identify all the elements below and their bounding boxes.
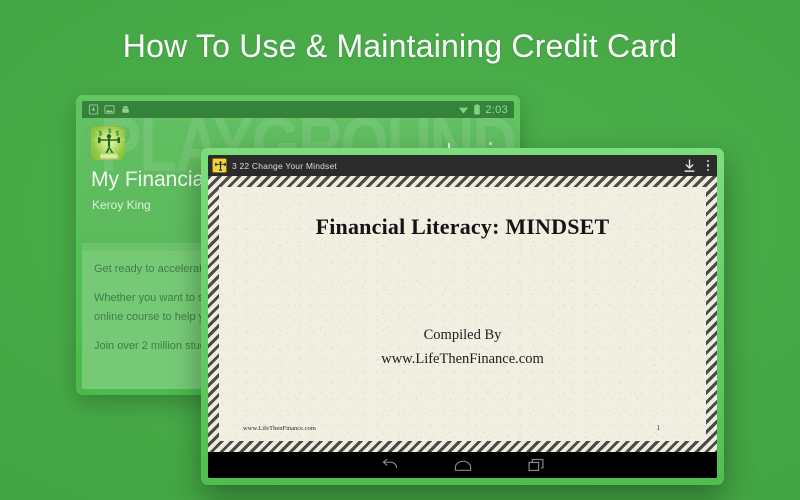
document-viewport[interactable]: Financial Literacy: MINDSET Compiled By … bbox=[208, 176, 717, 452]
status-clock: 2:03 bbox=[485, 104, 508, 116]
front-document-title: 3 22 Change Your Mindset bbox=[232, 161, 337, 171]
page-title: How To Use & Maintaining Credit Card bbox=[0, 28, 800, 65]
back-icon[interactable] bbox=[381, 458, 398, 472]
slide-footer-url: www.LifeThenFinance.com bbox=[243, 425, 316, 432]
back-app-author: Keroy King bbox=[92, 198, 151, 212]
slide-compiled-block: Compiled By www.LifeThenFinance.com bbox=[381, 324, 544, 372]
android-icon bbox=[120, 104, 131, 115]
android-nav-bar bbox=[208, 452, 717, 478]
slide-paper: Financial Literacy: MINDSET Compiled By … bbox=[219, 187, 706, 441]
front-tablet-device: 3 22 Change Your Mindset Financial Liter… bbox=[201, 148, 724, 485]
slide-heading: Financial Literacy: MINDSET bbox=[316, 214, 610, 240]
front-toolbar-actions bbox=[683, 159, 714, 173]
download-icon bbox=[88, 104, 99, 115]
wifi-icon bbox=[458, 104, 469, 115]
money-lifter-app-icon[interactable]: $$$ bbox=[91, 126, 125, 160]
overflow-menu-icon[interactable] bbox=[707, 160, 710, 172]
slide-page-number: 1 bbox=[657, 424, 661, 432]
back-status-notifications bbox=[88, 104, 131, 115]
slide-footer: www.LifeThenFinance.com 1 bbox=[243, 424, 682, 432]
back-status-system: 2:03 bbox=[458, 104, 508, 116]
presentation-slide: Financial Literacy: MINDSET Compiled By … bbox=[208, 176, 717, 452]
slide-compiled-url: www.LifeThenFinance.com bbox=[381, 348, 544, 372]
download-icon[interactable] bbox=[683, 159, 696, 173]
recents-icon[interactable] bbox=[528, 458, 544, 472]
front-app-toolbar: 3 22 Change Your Mindset bbox=[208, 155, 717, 176]
battery-icon bbox=[473, 104, 481, 115]
front-tablet-screen: 3 22 Change Your Mindset Financial Liter… bbox=[208, 155, 717, 478]
back-status-bar: 2:03 bbox=[82, 101, 514, 118]
promo-banner: How To Use & Maintaining Credit Card bbox=[0, 0, 800, 500]
home-icon[interactable] bbox=[454, 459, 472, 472]
pdf-warning-app-icon[interactable] bbox=[212, 158, 227, 173]
slide-compiled-label: Compiled By bbox=[381, 324, 544, 348]
image-icon bbox=[104, 104, 115, 115]
